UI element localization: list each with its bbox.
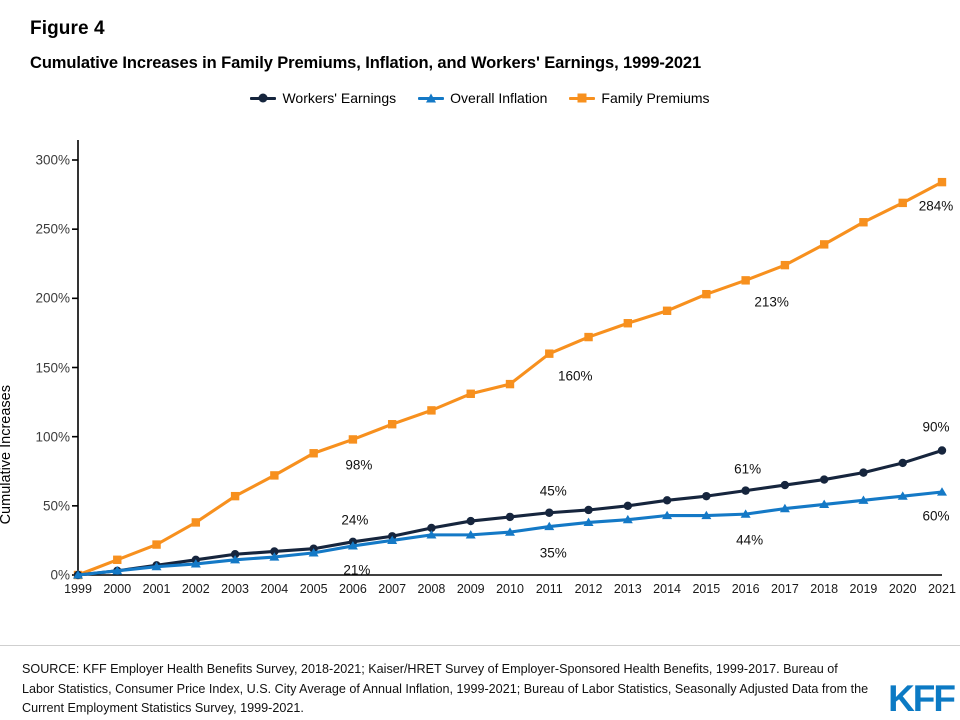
x-tick-label: 2008 bbox=[418, 582, 446, 596]
data-point-marker bbox=[702, 290, 710, 298]
x-tick-label: 2010 bbox=[496, 582, 524, 596]
data-point-marker bbox=[545, 509, 553, 517]
x-tick-label: 2004 bbox=[260, 582, 288, 596]
data-point-label: 24% bbox=[341, 512, 368, 527]
legend-swatch-triangle-icon bbox=[418, 97, 444, 100]
data-point-marker bbox=[938, 446, 946, 454]
data-point-marker bbox=[506, 380, 514, 388]
data-point-marker bbox=[741, 486, 749, 494]
data-point-marker bbox=[467, 517, 475, 525]
data-point-label: 98% bbox=[345, 458, 372, 473]
x-tick-label: 2019 bbox=[850, 582, 878, 596]
data-point-label: 90% bbox=[922, 419, 949, 434]
figure-container: Figure 4 Cumulative Increases in Family … bbox=[0, 0, 960, 720]
data-point-label: 44% bbox=[736, 533, 763, 548]
x-tick-label: 2009 bbox=[457, 582, 485, 596]
data-point-marker bbox=[231, 492, 239, 500]
data-point-marker bbox=[349, 435, 357, 443]
data-point-marker bbox=[781, 261, 789, 269]
legend-marker-circle-icon bbox=[259, 94, 268, 103]
x-tick-label: 2013 bbox=[614, 582, 642, 596]
data-point-marker bbox=[820, 475, 828, 483]
data-point-marker bbox=[584, 506, 592, 514]
kff-logo: KFF bbox=[888, 678, 954, 720]
data-point-marker bbox=[467, 390, 475, 398]
data-point-marker bbox=[506, 513, 514, 521]
data-point-marker bbox=[859, 218, 867, 226]
data-point-marker bbox=[938, 178, 946, 186]
x-tick-label: 2007 bbox=[378, 582, 406, 596]
figure-number: Figure 4 bbox=[30, 18, 105, 40]
legend-swatch-circle-icon bbox=[250, 97, 276, 100]
x-tick-label: 2014 bbox=[653, 582, 681, 596]
data-point-label: 160% bbox=[558, 368, 593, 383]
x-tick-label: 2021 bbox=[928, 582, 956, 596]
data-point-label: 213% bbox=[754, 295, 789, 310]
x-tick-label: 2002 bbox=[182, 582, 210, 596]
axis-lines bbox=[72, 140, 942, 575]
data-point-label: 61% bbox=[734, 461, 761, 476]
legend-swatch-square-icon bbox=[569, 97, 595, 100]
source-note: SOURCE: KFF Employer Health Benefits Sur… bbox=[22, 660, 872, 719]
legend-marker-square-icon bbox=[578, 94, 587, 103]
data-point-label: 45% bbox=[540, 483, 567, 498]
data-point-marker bbox=[427, 406, 435, 414]
x-tick-label: 2017 bbox=[771, 582, 799, 596]
x-tick-label: 2015 bbox=[692, 582, 720, 596]
data-point-marker bbox=[309, 449, 317, 457]
x-tick-label: 2020 bbox=[889, 582, 917, 596]
x-tick-label: 2018 bbox=[810, 582, 838, 596]
data-point-marker bbox=[663, 496, 671, 504]
plot-area: Cumulative Increases 0%50%100%150%200%25… bbox=[0, 130, 960, 600]
data-point-marker bbox=[899, 459, 907, 467]
data-point-marker bbox=[859, 468, 867, 476]
data-point-marker bbox=[113, 556, 121, 564]
data-point-marker bbox=[152, 540, 160, 548]
data-point-marker bbox=[820, 240, 828, 248]
data-point-marker bbox=[584, 333, 592, 341]
data-point-label: 60% bbox=[922, 509, 949, 524]
chart-legend: Workers' EarningsOverall InflationFamily… bbox=[0, 90, 960, 106]
data-point-marker bbox=[388, 420, 396, 428]
legend-item-triangle: Overall Inflation bbox=[418, 90, 547, 106]
legend-marker-triangle-icon bbox=[426, 94, 436, 103]
series-workers-earnings bbox=[74, 446, 946, 579]
x-tick-label: 2005 bbox=[300, 582, 328, 596]
data-point-label: 35% bbox=[540, 545, 567, 560]
data-point-marker bbox=[624, 502, 632, 510]
data-point-label: 21% bbox=[343, 562, 370, 577]
data-point-marker bbox=[741, 276, 749, 284]
x-tick-label: 2012 bbox=[575, 582, 603, 596]
x-tick-label: 2001 bbox=[143, 582, 171, 596]
data-point-marker bbox=[270, 471, 278, 479]
x-tick-label: 2003 bbox=[221, 582, 249, 596]
legend-label: Workers' Earnings bbox=[282, 90, 396, 106]
legend-item-square: Family Premiums bbox=[569, 90, 709, 106]
data-point-marker bbox=[192, 518, 200, 526]
legend-label: Overall Inflation bbox=[450, 90, 547, 106]
x-tick-label: 2011 bbox=[536, 582, 563, 596]
data-point-marker bbox=[624, 319, 632, 327]
x-tick-label: 1999 bbox=[64, 582, 92, 596]
data-point-label: 284% bbox=[919, 199, 954, 214]
x-tick-label: 2000 bbox=[103, 582, 131, 596]
data-point-marker bbox=[781, 481, 789, 489]
footer-divider bbox=[0, 645, 960, 646]
data-point-marker bbox=[663, 307, 671, 315]
series-overall-inflation bbox=[73, 487, 947, 578]
x-tick-label: 2016 bbox=[732, 582, 760, 596]
data-point-marker bbox=[899, 199, 907, 207]
figure-title: Cumulative Increases in Family Premiums,… bbox=[30, 54, 701, 73]
data-point-marker bbox=[702, 492, 710, 500]
legend-item-circle: Workers' Earnings bbox=[250, 90, 396, 106]
legend-label: Family Premiums bbox=[601, 90, 709, 106]
line-chart-svg bbox=[0, 130, 960, 600]
x-tick-label: 2006 bbox=[339, 582, 367, 596]
data-point-marker bbox=[545, 349, 553, 357]
